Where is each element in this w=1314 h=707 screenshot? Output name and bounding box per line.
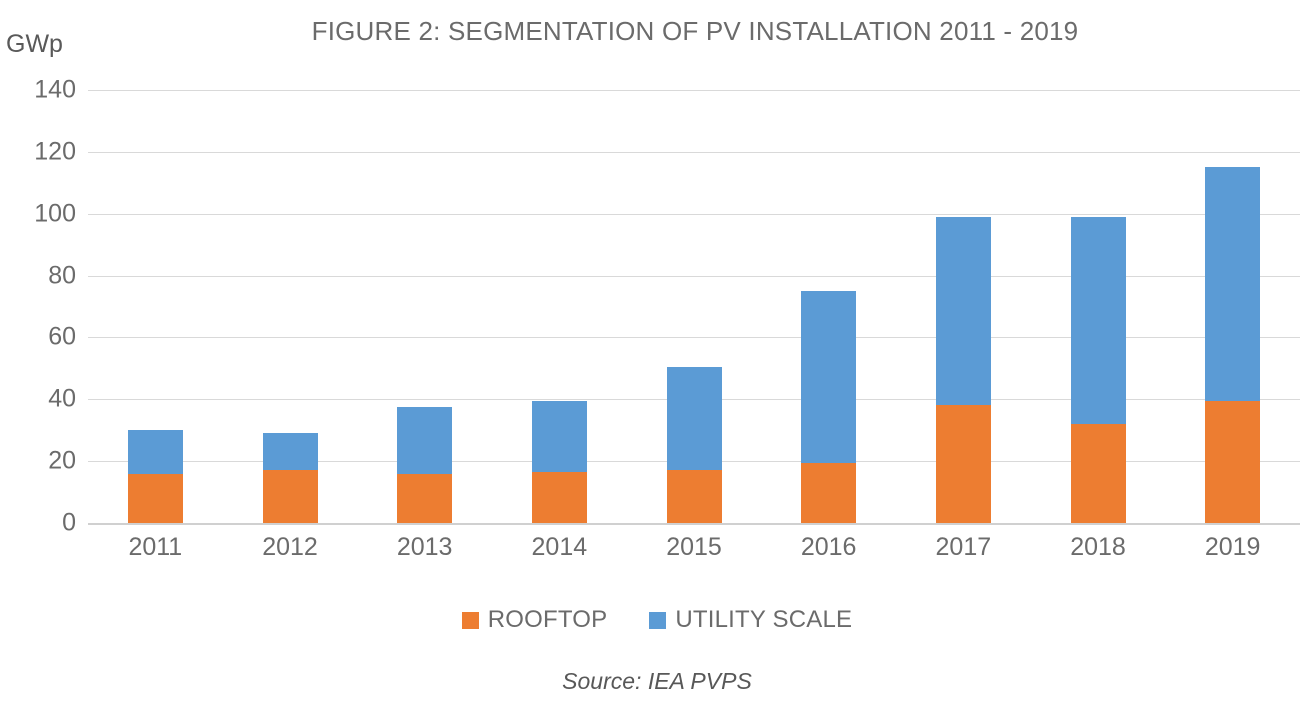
y-axis-tick-label: 80 [0,261,76,290]
bar-column[interactable] [1205,90,1260,523]
x-axis-tick-label: 2014 [499,533,619,562]
bar-segment-utility-scale[interactable] [397,407,452,473]
bar-segment-utility-scale[interactable] [801,291,856,463]
bar-stack[interactable] [1205,167,1260,523]
x-axis-tick-label: 2013 [365,533,485,562]
plot-area: 020406080100120140 201120122013201420152… [0,0,1314,707]
bar-segment-rooftop[interactable] [801,463,856,523]
x-axis-tick-label: 2016 [769,533,889,562]
x-axis-tick-label: 2019 [1173,533,1293,562]
y-axis-tick-label: 100 [0,199,76,228]
bar-column[interactable] [936,90,991,523]
legend-item[interactable]: ROOFTOP [462,606,608,634]
bar-segment-rooftop[interactable] [667,470,722,523]
axis-baseline [88,523,1300,525]
bar-segment-rooftop[interactable] [1205,401,1260,523]
bar-segment-utility-scale[interactable] [532,401,587,472]
y-axis-tick-label: 120 [0,137,76,166]
bar-stack[interactable] [263,433,318,523]
bar-stack[interactable] [936,217,991,523]
bar-column[interactable] [263,90,318,523]
chart-legend: ROOFTOPUTILITY SCALE [0,606,1314,634]
bar-column[interactable] [801,90,856,523]
x-axis-tick-label: 2018 [1038,533,1158,562]
chart-page: GWp FIGURE 2: SEGMENTATION OF PV INSTALL… [0,0,1314,707]
bar-stack[interactable] [801,291,856,523]
bar-segment-rooftop[interactable] [263,470,318,523]
bar-column[interactable] [532,90,587,523]
x-axis-tick-label: 2011 [95,533,215,562]
legend-label: UTILITY SCALE [675,606,852,634]
x-axis-tick-label: 2015 [634,533,754,562]
y-axis-tick-label: 0 [0,509,76,538]
bar-segment-rooftop[interactable] [397,474,452,523]
bar-segment-utility-scale[interactable] [1205,167,1260,401]
legend-swatch-icon [462,612,479,629]
bar-column[interactable] [397,90,452,523]
bar-segment-rooftop[interactable] [128,474,183,523]
bar-column[interactable] [1071,90,1126,523]
bar-segment-utility-scale[interactable] [936,217,991,406]
y-axis-tick-label: 40 [0,385,76,414]
bar-segment-utility-scale[interactable] [667,367,722,471]
bar-stack[interactable] [1071,217,1126,523]
bar-segment-rooftop[interactable] [1071,424,1126,523]
bar-stack[interactable] [397,407,452,523]
y-axis-tick-label: 140 [0,76,76,105]
source-note: Source: IEA PVPS [0,668,1314,695]
legend-item[interactable]: UTILITY SCALE [649,606,852,634]
x-axis-tick-label: 2012 [230,533,350,562]
y-axis-tick-label: 60 [0,323,76,352]
bar-segment-rooftop[interactable] [532,472,587,523]
bar-segment-rooftop[interactable] [936,405,991,523]
bar-segment-utility-scale[interactable] [1071,217,1126,424]
bar-column[interactable] [667,90,722,523]
legend-label: ROOFTOP [488,606,608,634]
y-axis-tick-label: 20 [0,447,76,476]
bar-column[interactable] [128,90,183,523]
x-axis-tick-label: 2017 [903,533,1023,562]
bar-stack[interactable] [532,401,587,523]
legend-swatch-icon [649,612,666,629]
bar-segment-utility-scale[interactable] [128,430,183,473]
bar-stack[interactable] [667,367,722,523]
bars-container [88,90,1300,523]
bar-stack[interactable] [128,430,183,523]
bar-segment-utility-scale[interactable] [263,433,318,470]
